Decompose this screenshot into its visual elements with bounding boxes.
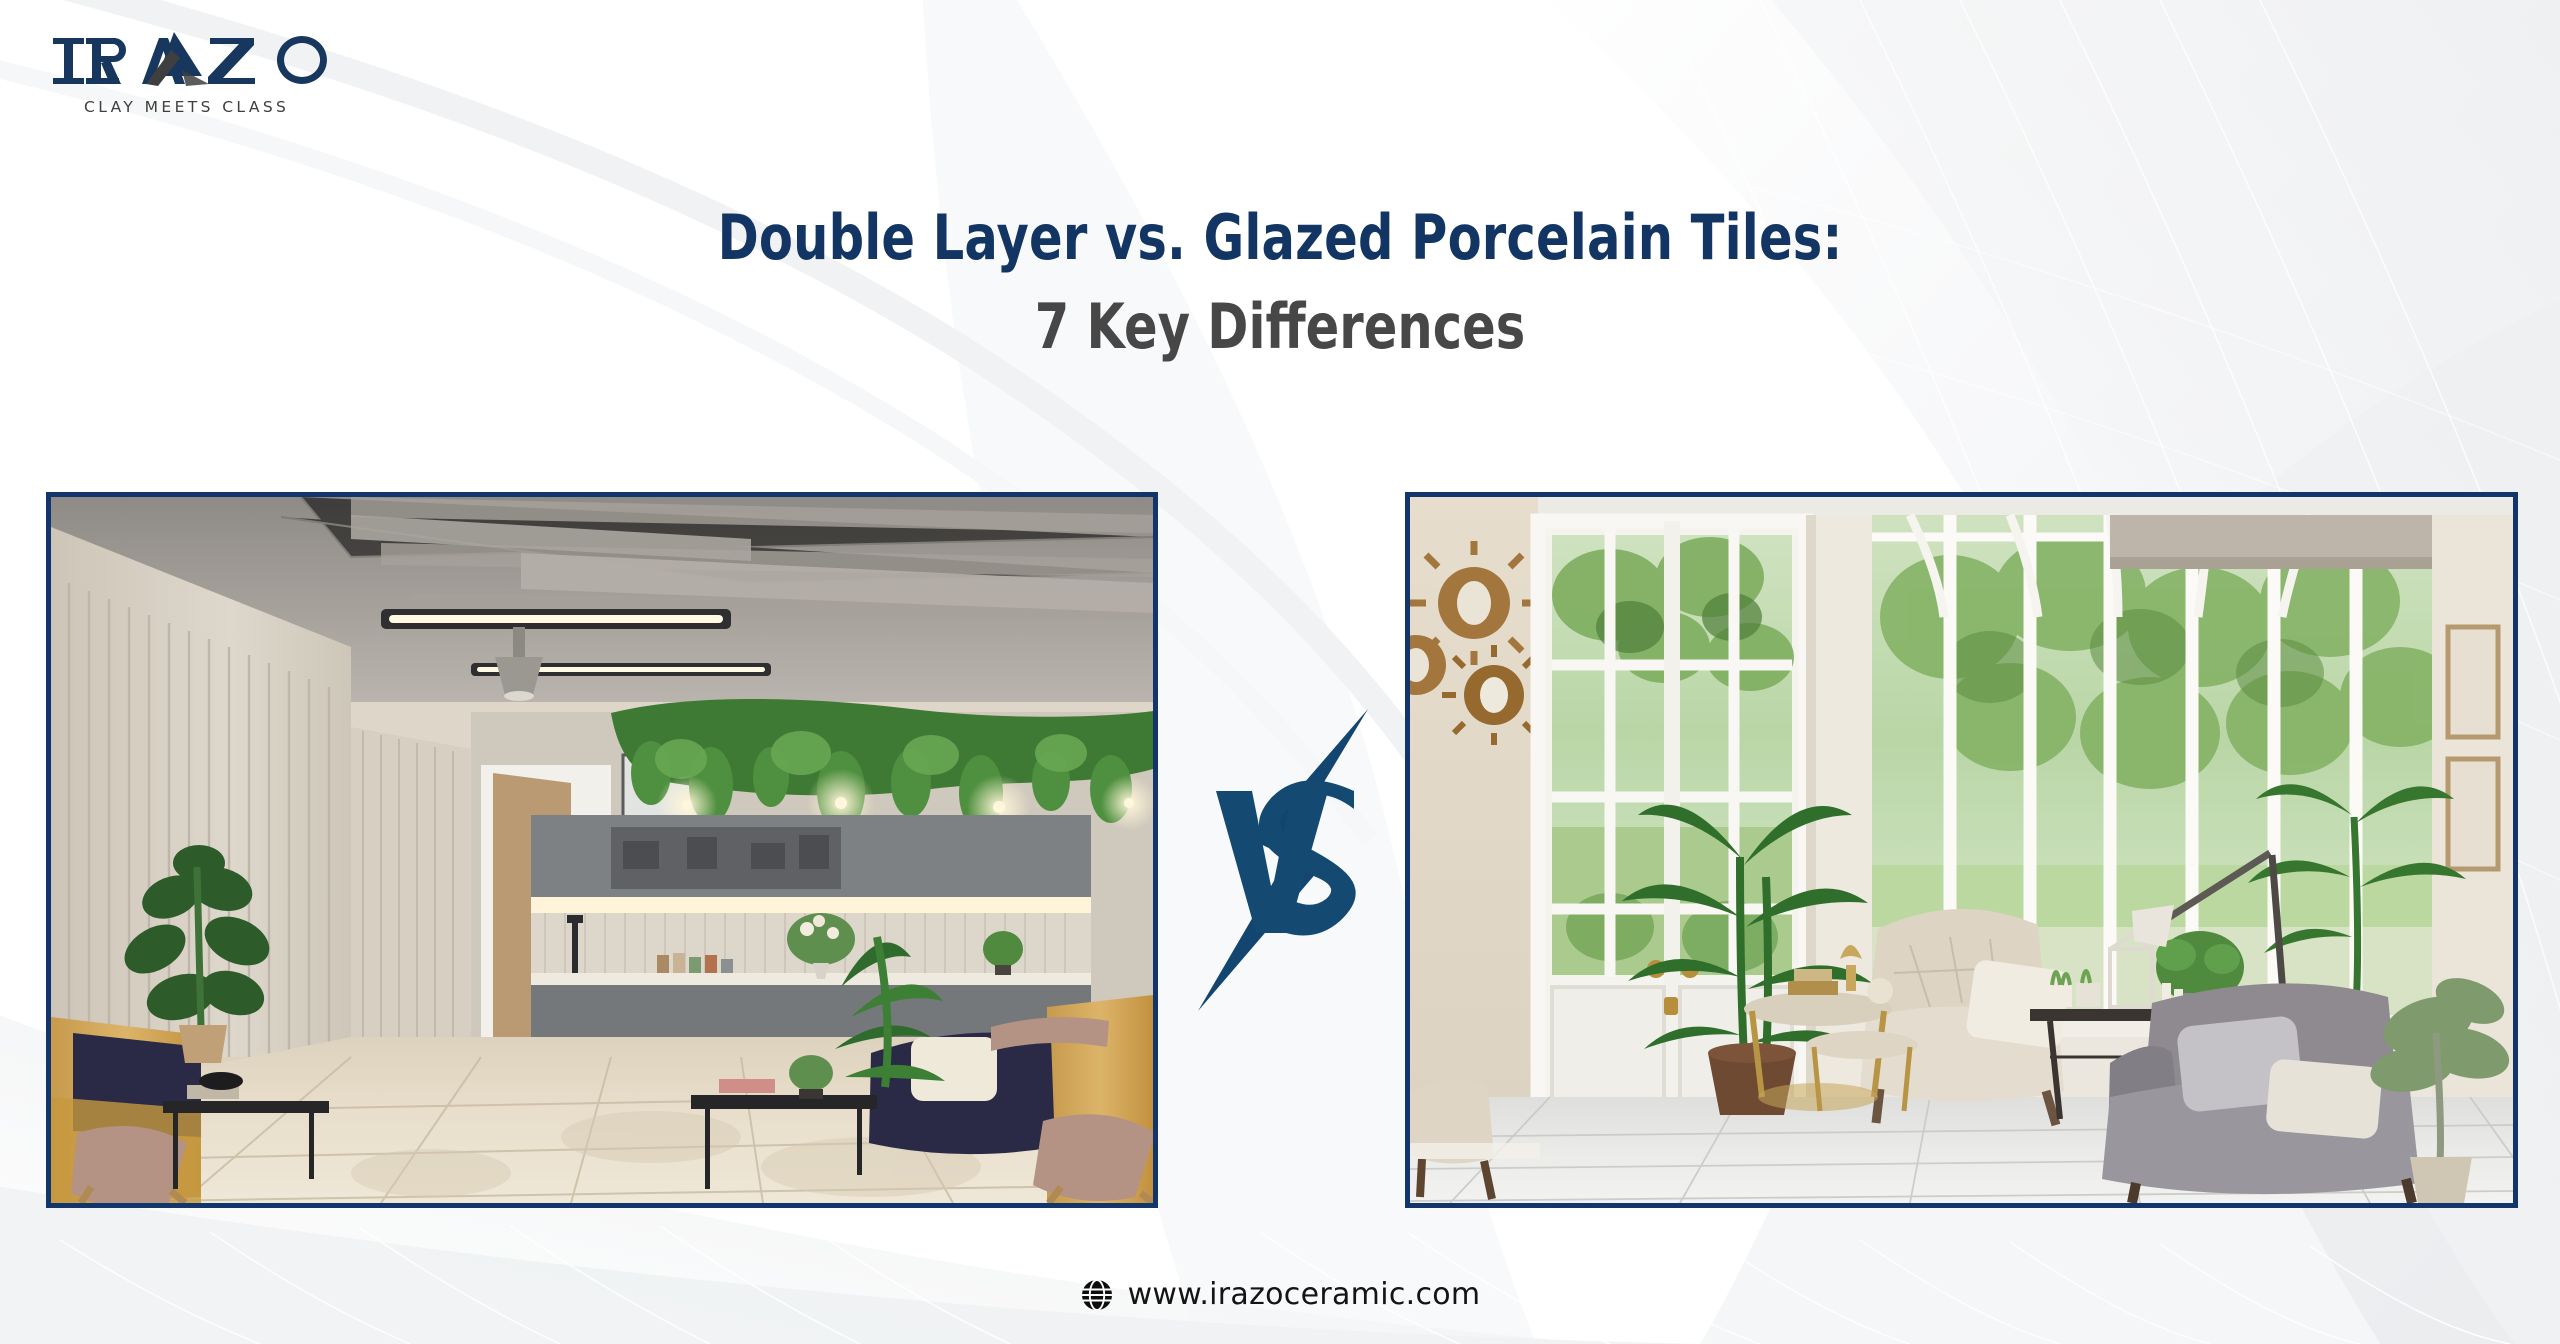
brand-tagline: CLAY MEETS CLASS (84, 98, 289, 116)
left-comparison-image[interactable]: 2 212 (46, 492, 1158, 1208)
office-interior-illustration: 2 212 (51, 497, 1153, 1203)
irazo-logo-svg: CLAY MEETS CLASS (34, 14, 374, 124)
page-title: Double Layer vs. Glazed Porcelain Tiles: (256, 205, 2304, 270)
vs-lightning-icon (1168, 705, 1398, 1015)
conservatory-interior-illustration (1410, 497, 2513, 1203)
title-block: Double Layer vs. Glazed Porcelain Tiles:… (0, 205, 2560, 359)
website-url[interactable]: www.irazoceramic.com (1128, 1280, 1481, 1310)
brand-logo[interactable]: CLAY MEETS CLASS (34, 14, 374, 124)
footer-bar: www.irazoceramic.com (0, 1278, 2560, 1312)
page-subtitle: 7 Key Differences (256, 294, 2304, 359)
vs-divider-badge (1168, 705, 1398, 1015)
right-comparison-image[interactable] (1405, 492, 2518, 1208)
globe-icon (1080, 1278, 1114, 1312)
